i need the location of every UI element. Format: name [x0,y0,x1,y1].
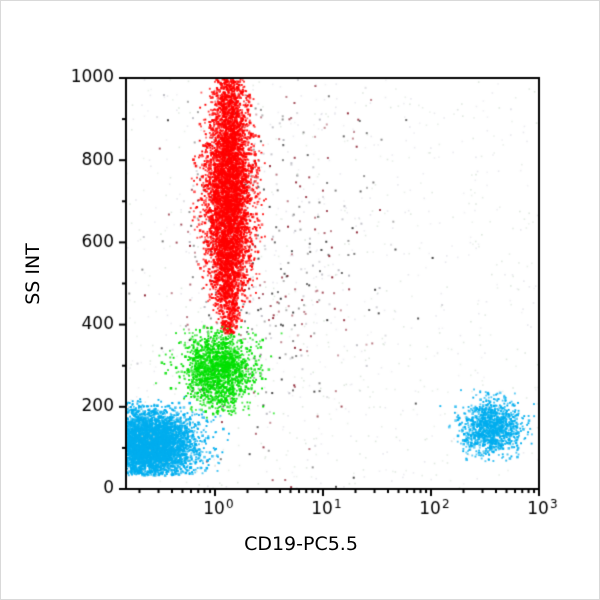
plot-area [1,1,600,600]
scatter-plot-canvas [1,1,600,600]
x-axis-label: CD19-PC5.5 [1,533,600,555]
y-axis-label: SS INT [22,229,44,319]
flow-cytometry-plot-page: [Leucocytes] CD19-PC5.5 / SS INT CD19-PC… [0,0,600,600]
